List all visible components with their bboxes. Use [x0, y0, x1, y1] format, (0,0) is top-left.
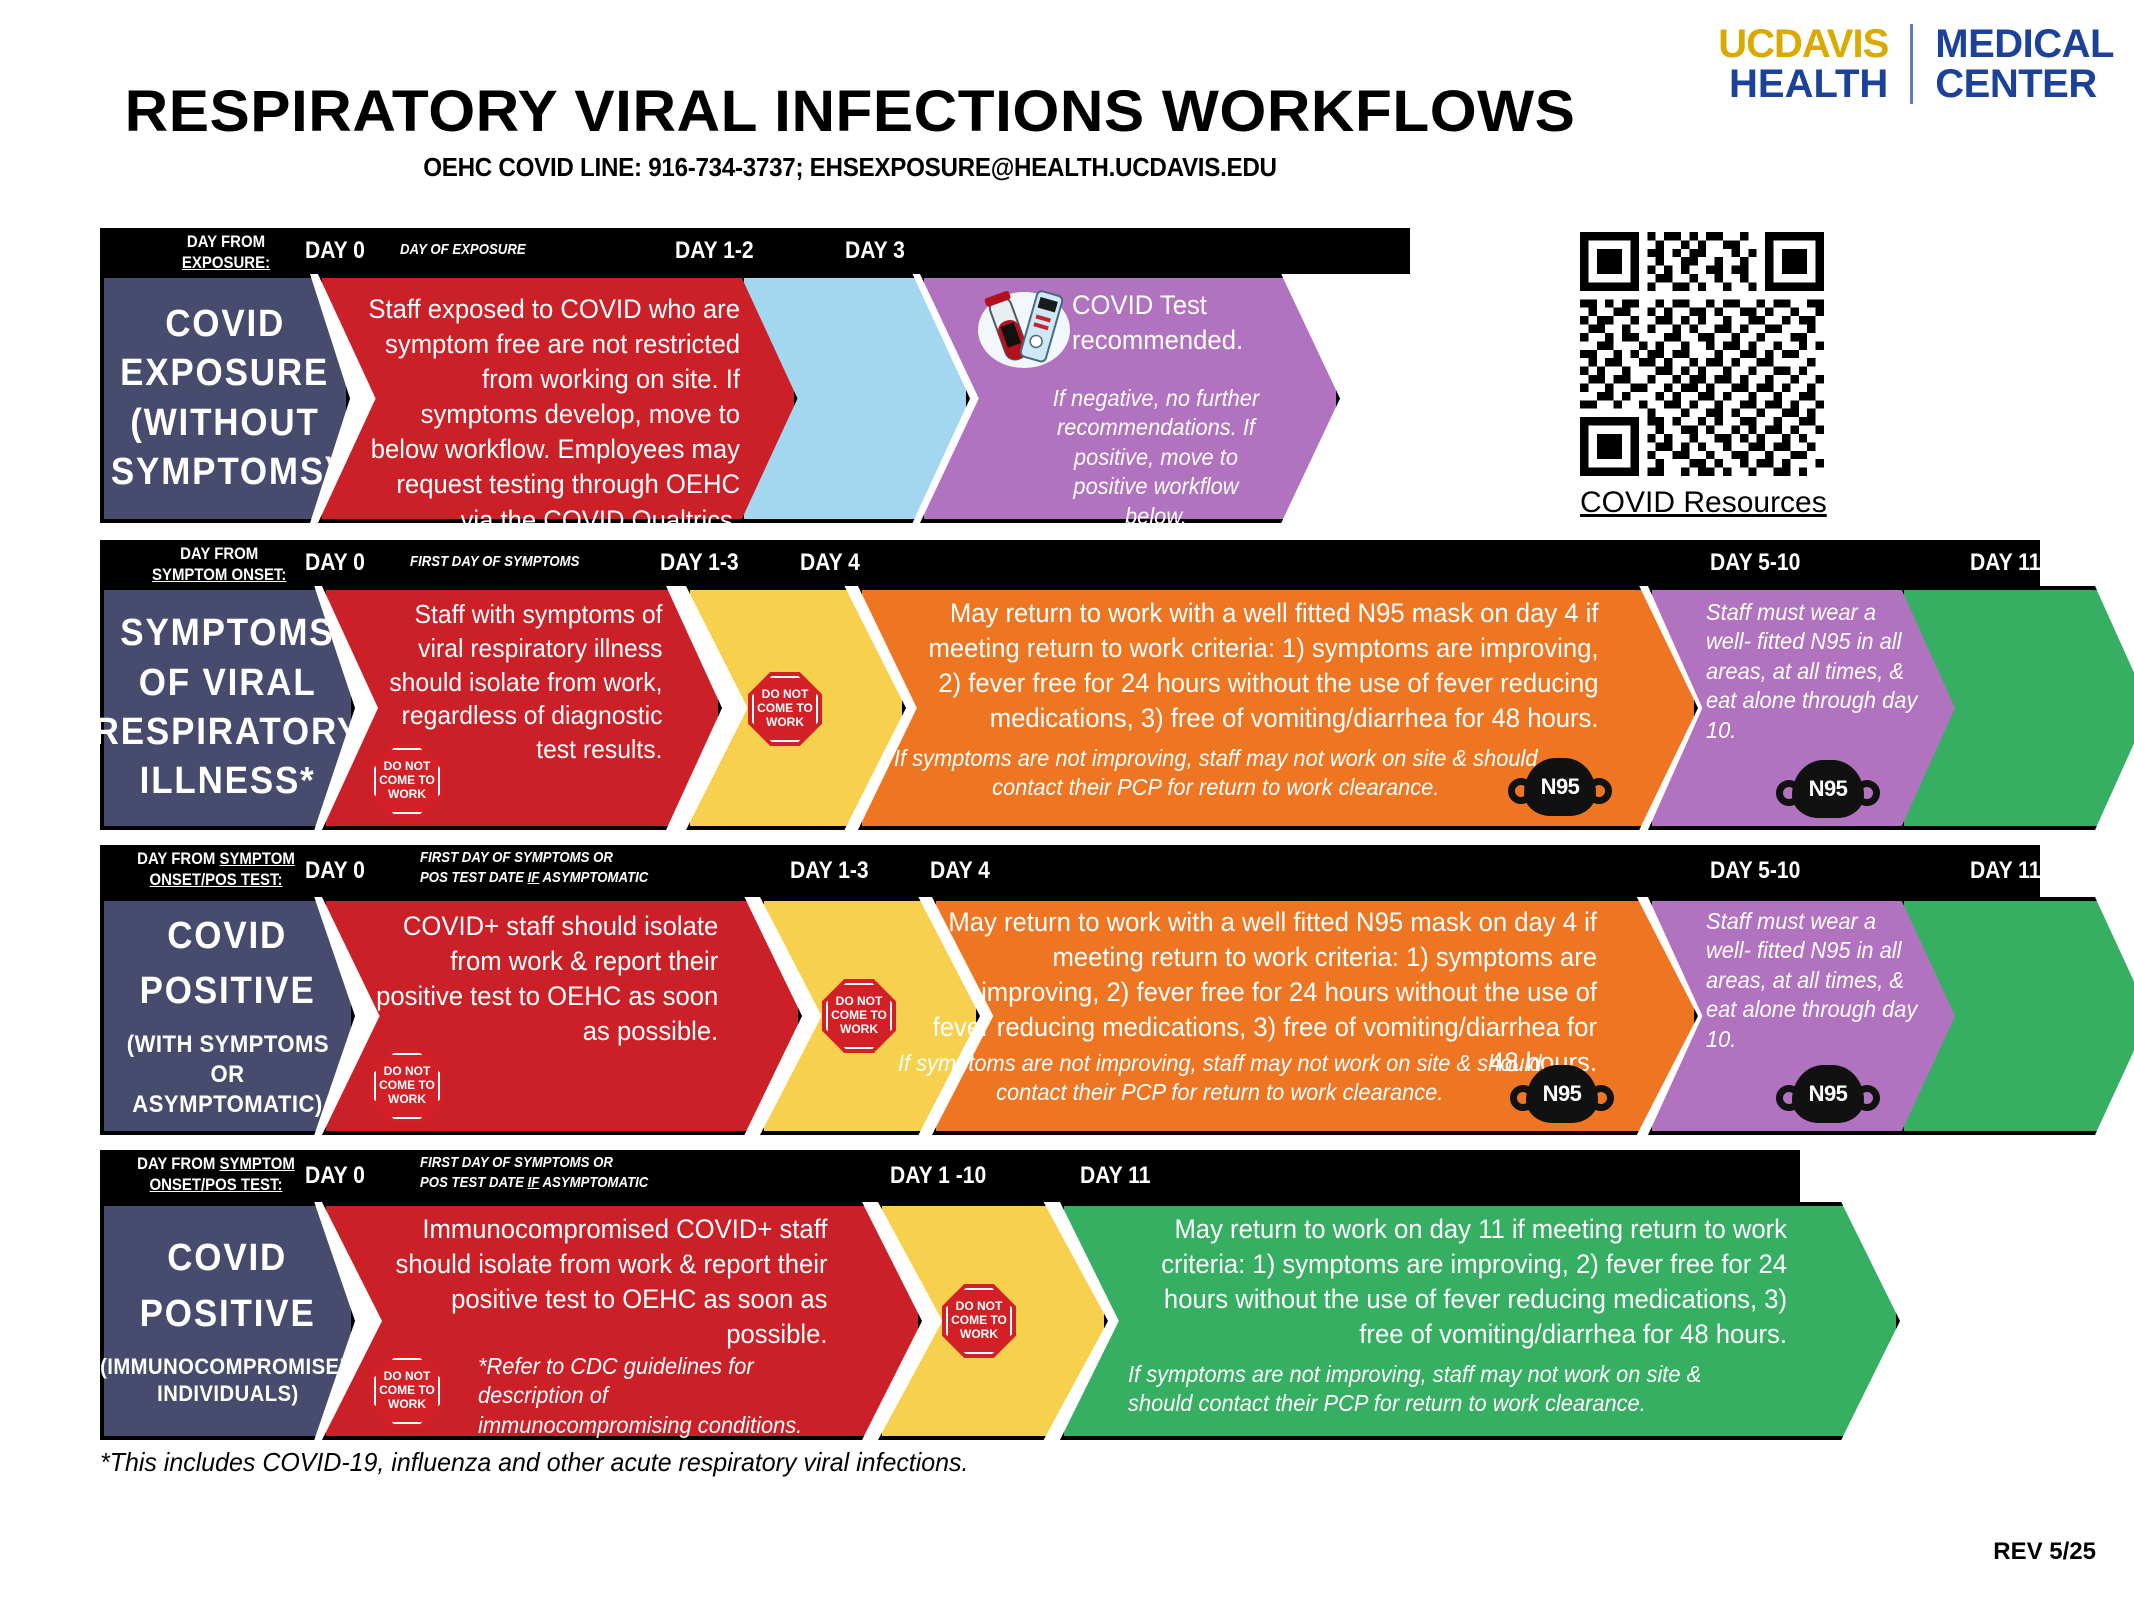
row-label-line-4: ILLNESS*	[140, 757, 316, 806]
row-header-day-0-note: FIRST DAY OF SYMPTOMS ORPOS TEST DATE IF…	[420, 1153, 648, 1192]
test-tubes-icon	[976, 286, 1072, 372]
row-header-day-0: DAY 0	[305, 549, 365, 577]
segment-orange-symptoms: May return to work with a well fitted N9…	[858, 586, 1698, 830]
n95-mask-icon: N95	[1776, 758, 1880, 820]
n95-label: N95	[1809, 776, 1848, 802]
test-tubes-icon-svg	[976, 286, 1072, 372]
infographic-page: RESPIRATORY VIRAL INFECTIONS WORKFLOWS O…	[0, 0, 2134, 1600]
stop-line-1: DO NOT	[956, 1300, 1003, 1314]
segment-green-covid-positive	[1900, 897, 2134, 1135]
n95-label: N95	[1543, 1081, 1582, 1107]
n95-label: N95	[1809, 1081, 1848, 1107]
row-header-day-from: DAY FROM SYMPTOM ONSET:	[118, 544, 320, 585]
stop-line-3: WORK	[388, 1093, 426, 1107]
row-header-day-4: DAY 4	[930, 857, 990, 885]
segment-red-immunocompromised: Immunocompromised COVID+ staff should is…	[322, 1202, 922, 1440]
stop-line-2: COME TO	[379, 1384, 435, 1398]
row-label-line-3: (WITHOUT	[130, 399, 319, 448]
logo-health-text: HEALTH	[1718, 64, 1888, 104]
row-label-line-1: COVID	[168, 1234, 288, 1283]
segment-purple-italic-text: Staff must wear a well- fitted N95 in al…	[1706, 907, 1925, 1054]
segment-green-immunocompromised: May return to work on day 11 if meeting …	[1060, 1202, 1900, 1440]
n95-mask-icon: N95	[1508, 756, 1612, 818]
row-header-day-5-10: DAY 5-10	[1710, 549, 1800, 577]
stop-line-1: DO NOT	[384, 1065, 431, 1079]
stop-line-3: WORK	[388, 788, 426, 802]
row-label-covid-exposure: COVID EXPOSURE (WITHOUT SYMPTOMS)	[100, 274, 350, 523]
row-header-day-0: DAY 0	[305, 857, 365, 885]
segment-red-text: Staff with symptoms of viral respiratory…	[368, 598, 663, 767]
stop-line-2: COME TO	[831, 1009, 887, 1023]
segment-orange-italic-text: If symptoms are not improving, staff may…	[888, 744, 1544, 803]
row-header-day-from: DAY FROM SYMPTOM ONSET/POS TEST:	[106, 849, 326, 890]
segment-orange-text: May return to work with a well fitted N9…	[924, 596, 1599, 736]
row-label-line-3: (IMMUNOCOMPROMISED	[100, 1353, 355, 1381]
logo-davis-text: DAVIS	[1774, 22, 1888, 66]
stop-line-2: COME TO	[757, 702, 813, 716]
logo-ucdavis: UCDAVIS	[1718, 24, 1888, 64]
row-label-line-2: POSITIVE	[140, 1290, 316, 1339]
page-subtitle: OEHC COVID LINE: 916-734-3737; EHSEXPOSU…	[60, 152, 1641, 183]
row-header-day-0-note: DAY OF EXPOSURE	[400, 241, 526, 258]
workflow-row-immunocompromised: DAY FROM SYMPTOM ONSET/POS TEST: DAY 0 F…	[100, 1150, 1800, 1440]
qr-code-icon[interactable]	[1580, 232, 1824, 476]
row-header-day-0: DAY 0	[305, 1162, 365, 1190]
row-header-day-1-10: DAY 1 -10	[890, 1162, 986, 1190]
logo-medical-text: MEDICAL	[1935, 24, 2114, 64]
stop-line-1: DO NOT	[762, 688, 809, 702]
stop-line-1: DO NOT	[836, 995, 883, 1009]
row-header-day-0-note: FIRST DAY OF SYMPTOMS	[410, 553, 579, 570]
workflow-row-covid-exposure: DAY FROM EXPOSURE: DAY 0 DAY OF EXPOSURE…	[100, 228, 1410, 523]
segment-red-text: Immunocompromised COVID+ staff should is…	[362, 1212, 828, 1352]
row-header-day-4: DAY 4	[800, 549, 860, 577]
segment-green-symptoms	[1900, 586, 2134, 830]
covid-resources-qr-block[interactable]: COVID Resources	[1580, 232, 1827, 520]
logo-uc-text: UC	[1718, 22, 1774, 66]
stop-line-1: DO NOT	[384, 1370, 431, 1384]
segment-purple-exposure: COVID Test recommended. If negative, no …	[920, 274, 1340, 523]
row-label-symptoms: SYMPTOMS OF VIRAL RESPIRATORY ILLNESS*	[100, 586, 355, 830]
row-label-line-3: (WITH SYMPTOMS	[126, 1030, 328, 1060]
page-title: RESPIRATORY VIRAL INFECTIONS WORKFLOWS	[0, 78, 1734, 145]
stop-line-3: WORK	[766, 716, 804, 730]
stop-line-3: WORK	[960, 1328, 998, 1342]
row-header-day-3: DAY 3	[845, 237, 905, 265]
row-label-line-4: INDIVIDUALS)	[157, 1380, 299, 1408]
segment-red-covid-positive: COVID+ staff should isolate from work & …	[322, 897, 802, 1135]
segment-red-text: COVID+ staff should isolate from work & …	[362, 909, 718, 1049]
stop-line-3: WORK	[840, 1023, 878, 1037]
n95-label: N95	[1541, 774, 1580, 800]
stop-line-2: COME TO	[379, 774, 435, 788]
n95-mask-icon: N95	[1510, 1063, 1614, 1125]
row-header-day-11: DAY 11	[1970, 857, 2040, 885]
row-label-line-4: OR ASYMPTOMATIC)	[114, 1060, 341, 1120]
workflow-row-covid-positive: DAY FROM SYMPTOM ONSET/POS TEST: DAY 0 F…	[100, 845, 2040, 1135]
n95-mask-icon: N95	[1776, 1063, 1880, 1125]
row-header-day-1-3: DAY 1-3	[660, 549, 739, 577]
segment-purple-italic-text: Staff must wear a well- fitted N95 in al…	[1706, 598, 1925, 745]
row-header-day-11: DAY 11	[1970, 549, 2040, 577]
row-label-line-1: COVID	[165, 300, 285, 349]
qr-caption[interactable]: COVID Resources	[1580, 486, 1827, 520]
stop-line-2: COME TO	[379, 1079, 435, 1093]
segment-purple-text: COVID Test recommended.	[1072, 288, 1281, 358]
stop-line-2: COME TO	[951, 1314, 1007, 1328]
row-header-day-11: DAY 11	[1080, 1162, 1150, 1190]
segment-orange-italic-text: If symptoms are not improving, staff may…	[892, 1049, 1548, 1108]
logo-center-text: CENTER	[1935, 64, 2114, 104]
segment-red-symptoms: Staff with symptoms of viral respiratory…	[322, 586, 722, 830]
row-label-covid-positive: COVID POSITIVE (WITH SYMPTOMS OR ASYMPTO…	[100, 897, 355, 1135]
row-label-line-2: POSITIVE	[140, 967, 316, 1016]
row-label-line-2: EXPOSURE	[120, 349, 329, 398]
segment-green-text: May return to work on day 11 if meeting …	[1122, 1212, 1787, 1352]
stop-line-3: WORK	[388, 1398, 426, 1412]
workflow-row-symptoms: DAY FROM SYMPTOM ONSET: DAY 0 FIRST DAY …	[100, 540, 2040, 830]
revision-label: REV 5/25	[1993, 1538, 2096, 1566]
uc-davis-health-logo: UCDAVIS HEALTH MEDICAL CENTER	[1718, 24, 2114, 104]
logo-left-block: UCDAVIS HEALTH	[1718, 24, 1910, 104]
stop-line-1: DO NOT	[384, 760, 431, 774]
row-label-line-4: SYMPTOMS)	[111, 448, 339, 497]
segment-red-text: Staff exposed to COVID who are symptom f…	[360, 292, 740, 538]
row-label-line-1: COVID	[168, 912, 288, 961]
segment-red-exposure: Staff exposed to COVID who are symptom f…	[318, 274, 798, 523]
row-label-line-1: SYMPTOMS	[120, 609, 334, 658]
row-header-day-from: DAY FROM SYMPTOM ONSET/POS TEST:	[106, 1154, 326, 1195]
segment-purple-italic-text: If negative, no further recommendations.…	[1042, 384, 1270, 531]
segment-green-italic-text: If symptoms are not improving, staff may…	[1128, 1360, 1736, 1419]
row-header-day-0-note: FIRST DAY OF SYMPTOMS ORPOS TEST DATE IF…	[420, 848, 648, 887]
row-label-immunocompromised: COVID POSITIVE (IMMUNOCOMPROMISED INDIVI…	[100, 1202, 355, 1440]
footnote: *This includes COVID-19, influenza and o…	[100, 1447, 968, 1478]
row-header-day-from: DAY FROM EXPOSURE:	[160, 232, 292, 273]
row-header-day-0: DAY 0	[305, 237, 365, 265]
segment-red-italic-text: *Refer to CDC guidelines for description…	[478, 1352, 820, 1440]
row-header-day-1-2: DAY 1-2	[675, 237, 754, 265]
segment-orange-covid-positive: May return to work with a well fitted N9…	[932, 897, 1698, 1135]
row-label-line-2: OF VIRAL	[139, 659, 317, 708]
row-header-day-1-3: DAY 1-3	[790, 857, 869, 885]
logo-right-block: MEDICAL CENTER	[1913, 24, 2114, 104]
row-header-bar	[100, 228, 1410, 274]
row-header-day-5-10: DAY 5-10	[1710, 857, 1800, 885]
